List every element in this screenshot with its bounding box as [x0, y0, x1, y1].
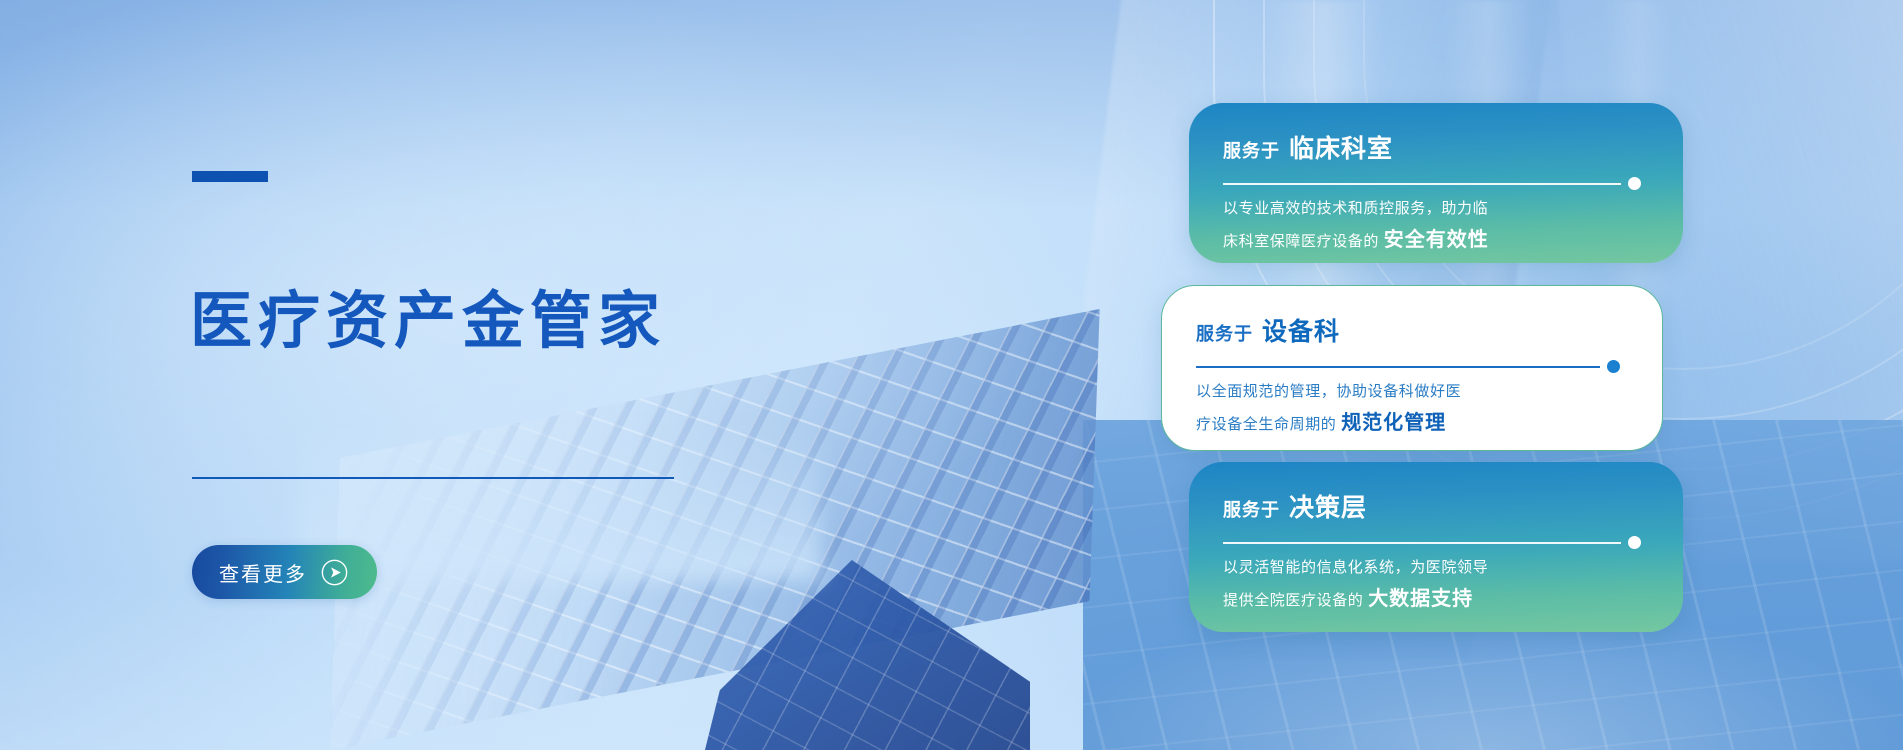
- card-description-line-2: 提供全院医疗设备的 大数据支持: [1223, 582, 1649, 618]
- slider-dot-icon: [1628, 177, 1641, 190]
- card-prefix-label: 服务于: [1196, 320, 1253, 346]
- card-separator-line: [1223, 183, 1621, 185]
- card-description-line-2: 床科室保障医疗设备的 安全有效性: [1223, 223, 1649, 259]
- card-description-line-1: 以灵活智能的信息化系统，为医院领导: [1223, 555, 1649, 582]
- card-description-emphasis: 大数据支持: [1368, 588, 1473, 610]
- card-description-emphasis: 规范化管理: [1341, 412, 1446, 434]
- page-title: 医疗资产金管家: [190, 291, 666, 353]
- card-description: 以灵活智能的信息化系统，为医院领导 提供全院医疗设备的 大数据支持: [1223, 555, 1649, 617]
- card-description: 以全面规范的管理，协助设备科做好医 疗设备全生命周期的 规范化管理: [1196, 379, 1628, 441]
- title-accent-dash: [192, 171, 268, 182]
- card-department-name: 设备科: [1262, 312, 1340, 348]
- slider-dot-icon: [1607, 360, 1620, 373]
- card-department-name: 临床科室: [1289, 129, 1393, 165]
- card-description-line-2: 疗设备全生命周期的 规范化管理: [1196, 406, 1628, 442]
- circle-arrow-right-icon: [320, 558, 349, 587]
- card-header: 服务于 设备科: [1196, 312, 1628, 348]
- service-card-decision-makers[interactable]: 服务于 决策层 以灵活智能的信息化系统，为医院领导 提供全院医疗设备的 大数据支…: [1189, 462, 1683, 632]
- card-separator-line: [1196, 366, 1600, 368]
- card-prefix-label: 服务于: [1223, 496, 1280, 522]
- card-description-line-2-plain: 疗设备全生命周期的: [1196, 416, 1336, 433]
- card-header: 服务于 决策层: [1223, 488, 1649, 524]
- card-header: 服务于 临床科室: [1223, 129, 1649, 165]
- card-department-name: 决策层: [1289, 488, 1367, 524]
- service-card-clinical-department[interactable]: 服务于 临床科室 以专业高效的技术和质控服务，助力临 床科室保障医疗设备的 安全…: [1189, 103, 1683, 263]
- card-prefix-label: 服务于: [1223, 137, 1280, 163]
- view-more-label: 查看更多: [219, 558, 307, 587]
- card-description-emphasis: 安全有效性: [1384, 229, 1489, 251]
- card-slider-separator: [1196, 357, 1628, 377]
- card-description-line-2-plain: 床科室保障医疗设备的: [1223, 233, 1379, 250]
- card-separator-line: [1223, 542, 1621, 544]
- hero-banner: 医疗资产金管家 查看更多 服务于 临床科室 以专业高: [0, 0, 1903, 750]
- title-divider-rule: [192, 477, 674, 479]
- card-slider-separator: [1223, 174, 1649, 194]
- service-card-equipment-department[interactable]: 服务于 设备科 以全面规范的管理，协助设备科做好医 疗设备全生命周期的 规范化管…: [1161, 285, 1663, 451]
- card-description-line-1: 以专业高效的技术和质控服务，助力临: [1223, 196, 1649, 223]
- slider-dot-icon: [1628, 536, 1641, 549]
- view-more-button[interactable]: 查看更多: [192, 545, 377, 599]
- card-slider-separator: [1223, 533, 1649, 553]
- hero-left-column: 医疗资产金管家 查看更多: [192, 0, 812, 750]
- service-card-list: 服务于 临床科室 以专业高效的技术和质控服务，助力临 床科室保障医疗设备的 安全…: [1143, 0, 1903, 750]
- card-description-line-1: 以全面规范的管理，协助设备科做好医: [1196, 379, 1628, 406]
- card-description-line-2-plain: 提供全院医疗设备的: [1223, 592, 1363, 609]
- card-description: 以专业高效的技术和质控服务，助力临 床科室保障医疗设备的 安全有效性: [1223, 196, 1649, 258]
